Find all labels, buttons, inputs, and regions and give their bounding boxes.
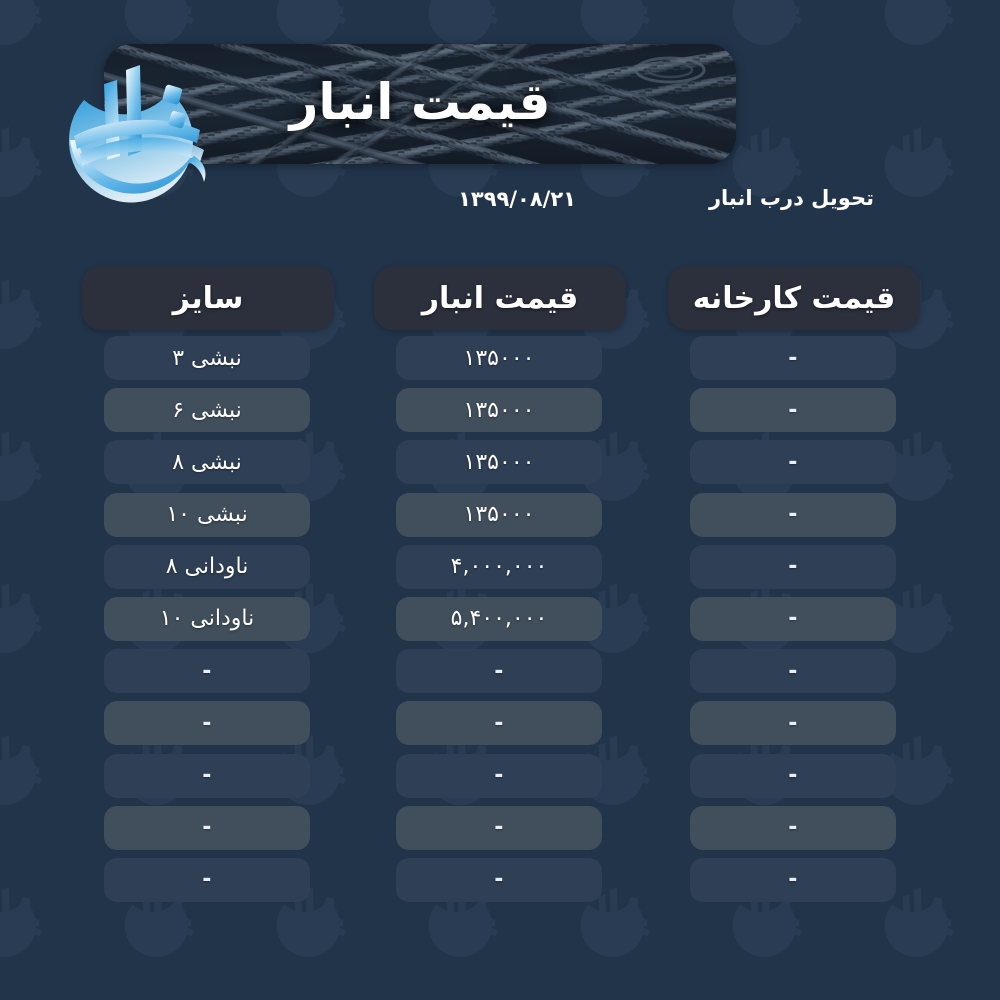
table-row: نبشی ۸۱۳۵۰۰۰- bbox=[0, 438, 1000, 490]
cell-store: - bbox=[396, 754, 602, 798]
table-row: ناودانی ۱۰۵,۴۰۰,۰۰۰- bbox=[0, 595, 1000, 647]
header: قیمت انبار bbox=[0, 44, 1000, 174]
cell-size: نبشی ۳ bbox=[104, 336, 310, 380]
cell-size: - bbox=[104, 649, 310, 693]
cell-factory: - bbox=[690, 597, 896, 641]
table-row: نبشی ۶۱۳۵۰۰۰- bbox=[0, 386, 1000, 438]
cell-store: ۴,۰۰۰,۰۰۰ bbox=[396, 545, 602, 589]
cell-store: ۵,۴۰۰,۰۰۰ bbox=[396, 597, 602, 641]
cell-size: - bbox=[104, 701, 310, 745]
delivery-label: تحویل درب انبار bbox=[709, 186, 874, 210]
cell-factory: - bbox=[690, 806, 896, 850]
column-header-size: سایز bbox=[82, 266, 334, 330]
price-table: سایز قیمت انبار قیمت کارخانه نبشی ۳۱۳۵۰۰… bbox=[0, 258, 1000, 908]
cell-store: ۱۳۵۰۰۰ bbox=[396, 388, 602, 432]
cell-store: - bbox=[396, 649, 602, 693]
cell-store: - bbox=[396, 806, 602, 850]
cell-factory: - bbox=[690, 858, 896, 902]
table-row: --- bbox=[0, 856, 1000, 908]
table-row: ناودانی ۸۴,۰۰۰,۰۰۰- bbox=[0, 543, 1000, 595]
table-row: نبشی ۳۱۳۵۰۰۰- bbox=[0, 334, 1000, 386]
table-row: --- bbox=[0, 804, 1000, 856]
table-row: --- bbox=[0, 699, 1000, 751]
cell-factory: - bbox=[690, 336, 896, 380]
table-row: نبشی ۱۰۱۳۵۰۰۰- bbox=[0, 491, 1000, 543]
cell-size: نبشی ۱۰ bbox=[104, 493, 310, 537]
cell-factory: - bbox=[690, 545, 896, 589]
cell-factory: - bbox=[690, 388, 896, 432]
column-header-factory: قیمت کارخانه bbox=[668, 266, 920, 330]
table-header-row: سایز قیمت انبار قیمت کارخانه bbox=[0, 258, 1000, 334]
cell-store: ۱۳۵۰۰۰ bbox=[396, 336, 602, 380]
cell-factory: - bbox=[690, 701, 896, 745]
subheader: تحویل درب انبار ۱۳۹۹/۰۸/۲۱ bbox=[0, 186, 1000, 226]
cell-size: - bbox=[104, 858, 310, 902]
date-label: ۱۳۹۹/۰۸/۲۱ bbox=[458, 187, 576, 211]
cell-store: ۱۳۵۰۰۰ bbox=[396, 440, 602, 484]
cell-store: ۱۳۵۰۰۰ bbox=[396, 493, 602, 537]
cell-store: - bbox=[396, 701, 602, 745]
cell-size: - bbox=[104, 754, 310, 798]
cell-store: - bbox=[396, 858, 602, 902]
cell-size: نبشی ۸ bbox=[104, 440, 310, 484]
cell-size: نبشی ۶ bbox=[104, 388, 310, 432]
cell-factory: - bbox=[690, 754, 896, 798]
table-row: --- bbox=[0, 647, 1000, 699]
cell-factory: - bbox=[690, 440, 896, 484]
cell-factory: - bbox=[690, 649, 896, 693]
column-header-store: قیمت انبار bbox=[374, 266, 626, 330]
table-body: نبشی ۳۱۳۵۰۰۰-نبشی ۶۱۳۵۰۰۰-نبشی ۸۱۳۵۰۰۰-ن… bbox=[0, 334, 1000, 908]
cell-size: ناودانی ۱۰ bbox=[104, 597, 310, 641]
cell-factory: - bbox=[690, 493, 896, 537]
cell-size: - bbox=[104, 806, 310, 850]
price-list-page: قیمت انبار bbox=[0, 0, 1000, 1000]
table-row: --- bbox=[0, 752, 1000, 804]
cell-size: ناودانی ۸ bbox=[104, 545, 310, 589]
